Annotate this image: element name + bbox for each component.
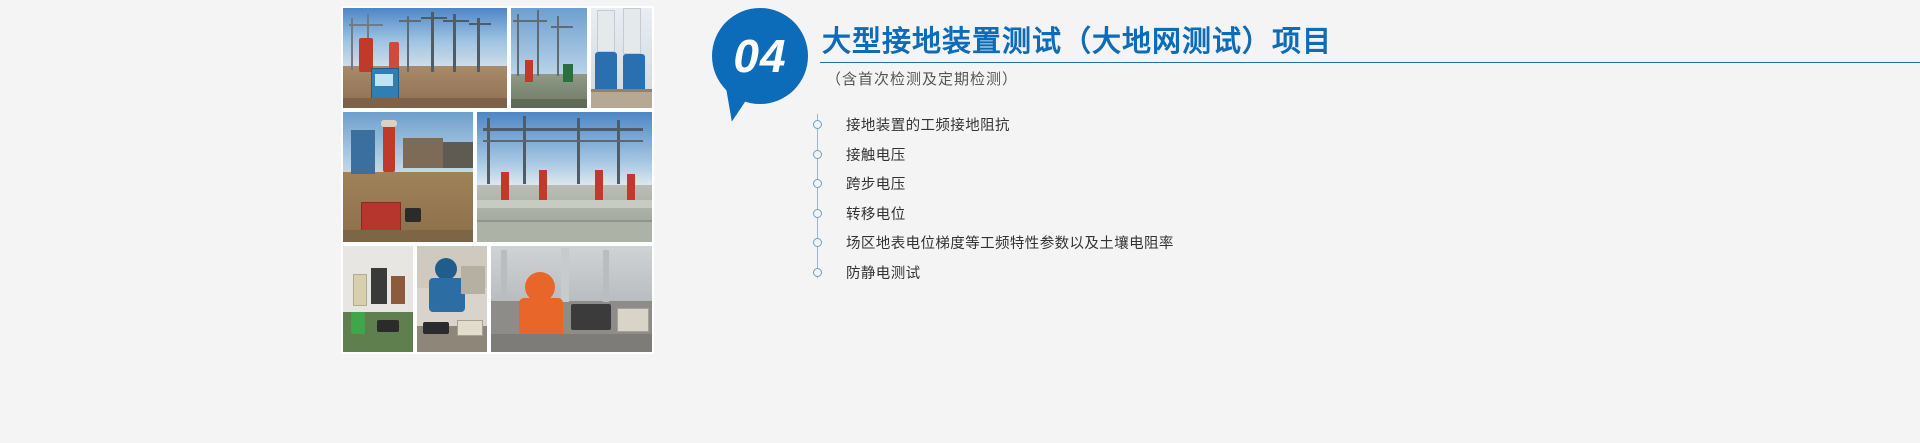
list-item: 接触电压 [805,140,1905,170]
bullet-circle-icon [805,150,830,159]
photo-blue-test-device [589,6,654,110]
list-item: 转移电位 [805,199,1905,229]
section-content: 04 大型接地装置测试（大地网测试）项目 （含首次检测及定期检测） 接地装置的工… [712,0,1920,443]
page-root: 04 大型接地装置测试（大地网测试）项目 （含首次检测及定期检测） 接地装置的工… [0,0,1920,443]
photo-collage [341,6,654,354]
photo-indoor-instruments [341,244,415,354]
photo-substation-hv-test [341,6,509,110]
photo-substation-closeup [509,6,589,110]
title-divider [820,62,1920,63]
list-item-label: 防静电测试 [830,262,921,283]
photo-substation-panorama [475,110,654,244]
bullet-circle-icon [805,209,830,218]
photo-outdoor-ground-test [341,110,475,244]
section-number-badge: 04 [712,8,820,116]
bullet-circle-icon [805,238,830,247]
list-item: 跨步电压 [805,169,1905,199]
photo-technician-operating [415,244,489,354]
photo-field-grounding-work [489,244,654,354]
bullet-circle-icon [805,120,830,129]
list-item: 接地装置的工频接地阻抗 [805,110,1905,140]
bullet-circle-icon [805,179,830,188]
section-number: 04 [712,8,808,104]
list-item-label: 转移电位 [830,203,906,224]
section-title: 大型接地装置测试（大地网测试）项目 [822,18,1332,60]
list-item-label: 接触电压 [830,144,906,165]
list-item: 场区地表电位梯度等工频特性参数以及土壤电阻率 [805,228,1905,258]
list-item-label: 接地装置的工频接地阻抗 [830,114,1010,135]
list-item-label: 跨步电压 [830,173,906,194]
feature-list: 接地装置的工频接地阻抗 接触电压 跨步电压 转移电位 场区地表电位梯度等工频特性… [805,110,1905,287]
bullet-circle-icon [805,268,830,277]
list-item: 防静电测试 [805,258,1905,288]
list-item-label: 场区地表电位梯度等工频特性参数以及土壤电阻率 [830,232,1174,253]
section-subtitle: （含首次检测及定期检测） [826,68,1018,89]
